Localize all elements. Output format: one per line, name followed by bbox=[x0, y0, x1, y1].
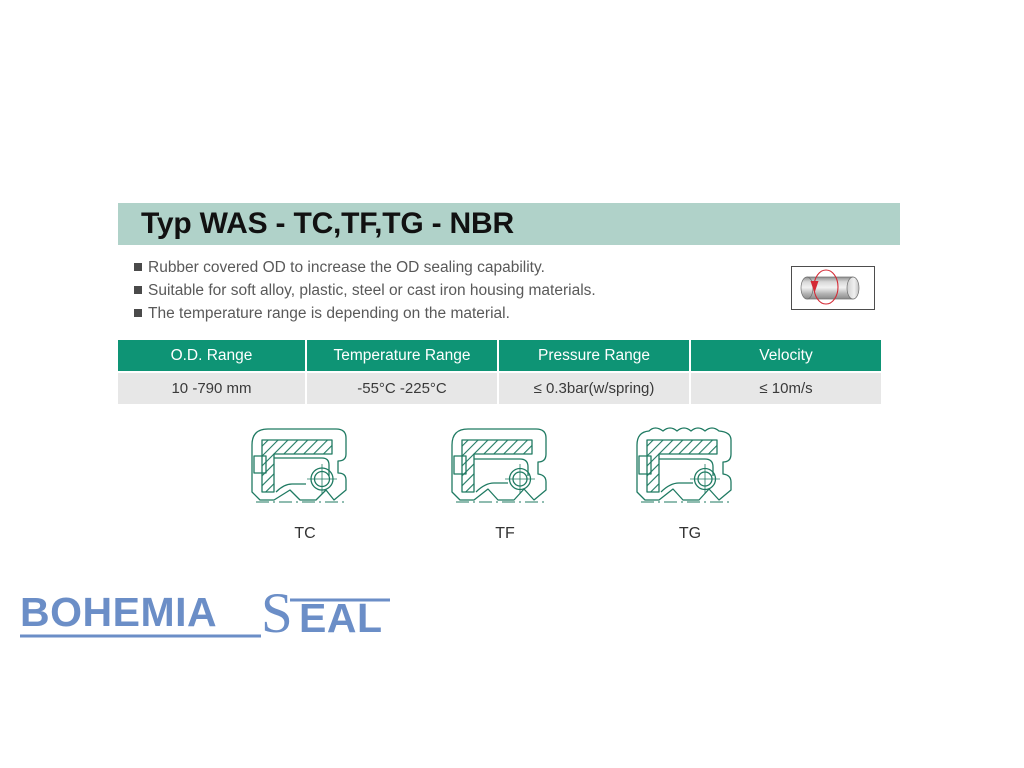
specification-table: O.D. Range Temperature Range Pressure Ra… bbox=[118, 340, 881, 404]
cell-od-range: 10 -790 mm bbox=[118, 372, 306, 404]
seal-diagram-tc bbox=[230, 418, 380, 523]
page-title: Typ WAS - TC,TF,TG - NBR bbox=[118, 207, 514, 241]
table-header-row: O.D. Range Temperature Range Pressure Ra… bbox=[118, 340, 881, 372]
logo-initial-s: S bbox=[261, 588, 293, 644]
column-header-velocity: Velocity bbox=[690, 340, 881, 372]
square-bullet-icon bbox=[134, 286, 142, 294]
list-item: The temperature range is depending on th… bbox=[134, 302, 734, 325]
seal-label-tc: TC bbox=[230, 525, 380, 543]
seal-diagram-tg bbox=[615, 418, 765, 523]
list-item: Suitable for soft alloy, plastic, steel … bbox=[134, 279, 734, 302]
cell-velocity: ≤ 10m/s bbox=[690, 372, 881, 404]
square-bullet-icon bbox=[134, 263, 142, 271]
company-logo: BOHEMIA S EAL bbox=[18, 588, 418, 644]
column-header-od-range: O.D. Range bbox=[118, 340, 306, 372]
seal-profile-gallery: TC TF bbox=[118, 418, 878, 548]
feature-text: Rubber covered OD to increase the OD sea… bbox=[148, 256, 545, 279]
seal-diagram-tf bbox=[430, 418, 580, 523]
feature-text: Suitable for soft alloy, plastic, steel … bbox=[148, 279, 596, 302]
feature-list: Rubber covered OD to increase the OD sea… bbox=[134, 256, 734, 325]
seal-label-tf: TF bbox=[430, 525, 580, 543]
seal-label-tg: TG bbox=[615, 525, 765, 543]
page-title-band: Typ WAS - TC,TF,TG - NBR bbox=[118, 203, 900, 245]
logo-text-eal: EAL bbox=[299, 595, 383, 641]
square-bullet-icon bbox=[134, 309, 142, 317]
logo-text-bohemia: BOHEMIA bbox=[20, 589, 217, 635]
column-header-pressure-range: Pressure Range bbox=[498, 340, 690, 372]
feature-text: The temperature range is depending on th… bbox=[148, 302, 510, 325]
list-item: Rubber covered OD to increase the OD sea… bbox=[134, 256, 734, 279]
column-header-temperature-range: Temperature Range bbox=[306, 340, 498, 372]
shaft-rotation-icon bbox=[791, 266, 875, 310]
cell-temperature-range: -55°C -225°C bbox=[306, 372, 498, 404]
cell-pressure-range: ≤ 0.3bar(w/spring) bbox=[498, 372, 690, 404]
table-row: 10 -790 mm -55°C -225°C ≤ 0.3bar(w/sprin… bbox=[118, 372, 881, 404]
